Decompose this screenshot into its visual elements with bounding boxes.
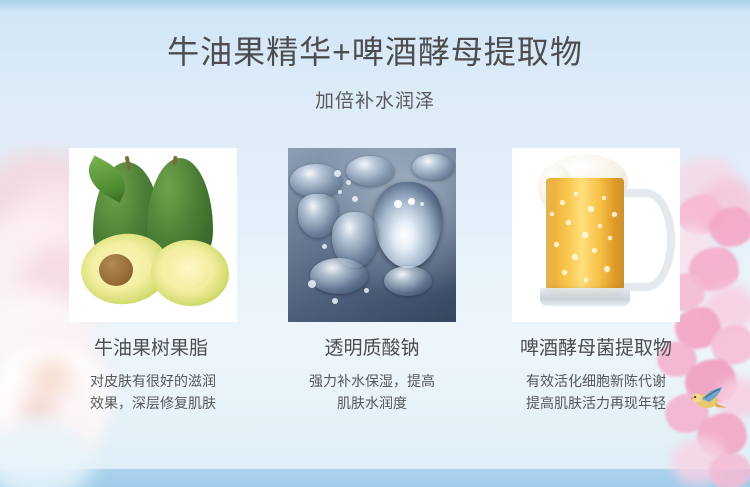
ingredient-description: 有效活化细胞新陈代谢 提高肌肤活力再现年轻 (512, 370, 680, 414)
ingredient-title: 啤酒酵母菌提取物 (512, 336, 680, 361)
product-ingredient-banner: 牛油果精华+啤酒酵母提取物 加倍补水润泽 牛油果树 (0, 0, 750, 487)
avocado-photo (69, 148, 237, 322)
ingredient-card-list: 牛油果树果脂 对皮肤有很好的滋润 效果，深层修复肌肤 (0, 148, 750, 448)
ingredient-title: 牛油果树果脂 (65, 336, 237, 361)
water-droplets-photo (288, 148, 456, 322)
beer-mug-photo (512, 148, 680, 322)
page-subtitle: 加倍补水润泽 (0, 89, 750, 115)
ingredient-description: 强力补水保湿，提高 肌肤水润度 (288, 370, 456, 414)
ingredient-title: 透明质酸钠 (288, 336, 456, 361)
ingredient-description: 对皮肤有很好的滋润 效果，深层修复肌肤 (69, 370, 237, 414)
ingredient-card-yeast: 啤酒酵母菌提取物 有效活化细胞新陈代谢 提高肌肤活力再现年轻 (512, 148, 680, 414)
ingredient-card-avocado: 牛油果树果脂 对皮肤有很好的滋润 效果，深层修复肌肤 (69, 148, 237, 414)
ingredient-card-hyaluronic: 透明质酸钠 强力补水保湿，提高 肌肤水润度 (288, 148, 456, 414)
page-title: 牛油果精华+啤酒酵母提取物 (0, 32, 750, 72)
